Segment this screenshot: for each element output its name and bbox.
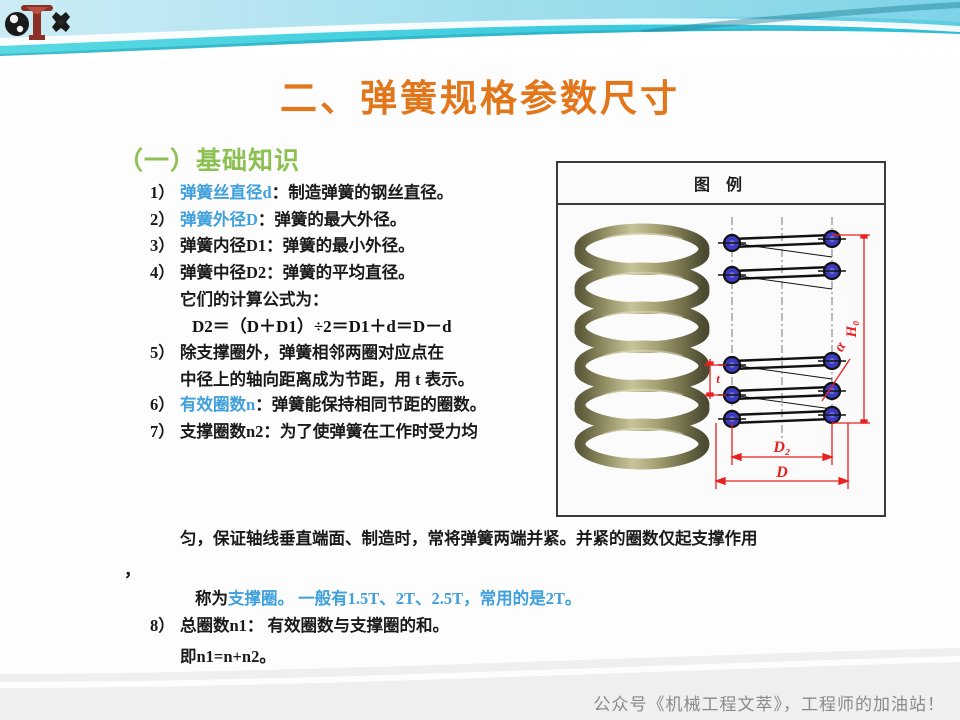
list-item-text: 有效圈数n：弹簧能保持相同节距的圈数。 [180, 392, 570, 418]
list-item-term: 有效圈数n [180, 395, 255, 414]
spring-technical-drawing: D₂ D H₀ α t [704, 209, 886, 511]
label-H0: H₀ [844, 321, 860, 339]
list-item-rest: ：弹簧能保持相同节距的圈数。 [255, 395, 486, 414]
company-logo-icon [4, 2, 70, 46]
diameter-formula: D2＝（D＋D1）÷2＝D1＋d＝D－d [150, 313, 570, 340]
list-item-number: 5） [150, 340, 180, 366]
formula-intro: 它们的计算公式为： [150, 287, 570, 313]
list-item-text: 弹簧中径D2：弹簧的平均直径。 [180, 260, 570, 286]
list-item-number: 8） [150, 612, 180, 636]
list-item-text: 弹簧丝直径d：制造弹簧的钢丝直径。 [180, 180, 570, 206]
list-item-number: 4） [150, 260, 180, 286]
label-t: t [716, 371, 720, 386]
knowledge-list: 1） 弹簧丝直径d：制造弹簧的钢丝直径。 2） 弹簧外径D：弹簧的最大外径。 3… [150, 180, 570, 446]
list-item-number: 6） [150, 392, 180, 418]
list-item-rest: ：弹簧的最大外径。 [258, 210, 407, 229]
list-item-number: 1） [150, 180, 180, 206]
list-item: 3） 弹簧内径D1：弹簧的最小外径。 [150, 233, 570, 259]
list-item-rest: ：制造弹簧的钢丝直径。 [272, 183, 454, 202]
list-item-rest: ：弹簧的平均直径。 [266, 263, 415, 282]
list-item-number: 7） [150, 419, 180, 445]
list-item-continuation: 中径上的轴向距离成为节距，用 t 表示。 [150, 367, 570, 393]
list-item: 4） 弹簧中径D2：弹簧的平均直径。 [150, 260, 570, 286]
list-item-term: 弹簧中径D2 [180, 263, 266, 282]
footer-credit: 公众号《机械工程文萃》，工程师的加油站！ [0, 690, 945, 715]
item7-tail: 称为支撑圈。 一般有1.5T、2T、2.5T，常用的是2T。 [195, 585, 581, 609]
item7-tail-blue: 支撑圈。 一般有1.5T、2T、2.5T，常用的是2T。 [228, 589, 581, 608]
list-item-term: 弹簧内径D1 [180, 236, 266, 255]
list-item-text: 支撑圈数n2：为了使弹簧在工作时受力均 [180, 419, 570, 445]
top-banner-decoration [0, 0, 960, 62]
list-item-text: 弹簧内径D1：弹簧的最小外径。 [180, 233, 570, 259]
diagram-title: 图 例 [558, 163, 884, 205]
list-item: 1） 弹簧丝直径d：制造弹簧的钢丝直径。 [150, 180, 570, 206]
label-D2: D₂ [772, 439, 790, 456]
coil-spring-photo-icon [562, 213, 722, 503]
page-title: 二、弹簧规格参数尺寸 [0, 68, 960, 122]
item7-tail-prefix: 称为 [195, 589, 228, 608]
stray-comma-artifact: ， [124, 556, 141, 581]
list-item-term: 弹簧外径D [180, 210, 258, 229]
list-item-text: 总圈数n1： 有效圈数与支撑圈的和。 [180, 616, 449, 635]
list-item-number: 3） [150, 233, 180, 259]
list-item-term: 弹簧丝直径d [180, 183, 272, 202]
list-item: 8）总圈数n1： 有效圈数与支撑圈的和。 [150, 612, 449, 636]
label-D: D [775, 464, 788, 481]
list-item-number: 2） [150, 207, 180, 233]
list-item-text: 除支撑圈外，弹簧相邻两圈对应点在 [180, 340, 570, 366]
slide-root: 二、弹簧规格参数尺寸 （一）基础知识 1） 弹簧丝直径d：制造弹簧的钢丝直径。 … [0, 0, 960, 720]
diagram-body: D₂ D H₀ α t [558, 205, 884, 515]
list-item: 2） 弹簧外径D：弹簧的最大外径。 [150, 207, 570, 233]
section-subheading: （一）基础知识 [118, 141, 300, 177]
item7-continuation-line: 匀，保证轴线垂直端面、制造时，常将弹簧两端并紧。并紧的圈数仅起支撑作用 [180, 525, 758, 549]
diagram-panel: 图 例 [556, 161, 886, 517]
list-item: 6） 有效圈数n：弹簧能保持相同节距的圈数。 [150, 392, 570, 418]
list-item-text: 弹簧外径D：弹簧的最大外径。 [180, 207, 570, 233]
list-item: 7） 支撑圈数n2：为了使弹簧在工作时受力均 [150, 419, 570, 445]
list-item-rest: ：弹簧的最小外径。 [266, 236, 415, 255]
list-item: 5） 除支撑圈外，弹簧相邻两圈对应点在 [150, 340, 570, 366]
